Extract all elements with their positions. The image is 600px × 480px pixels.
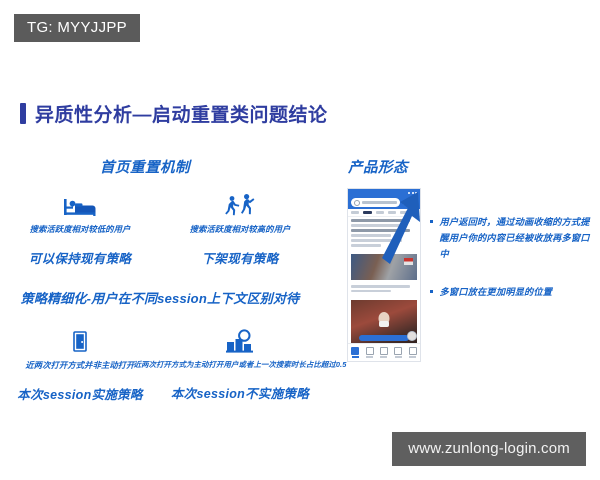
phone-result-list-2: [348, 283, 420, 297]
phone-result-list: [348, 217, 420, 251]
phone-search-query: [362, 201, 397, 204]
flag-graphic: [404, 258, 413, 265]
phone-tab-active[interactable]: [363, 211, 372, 214]
mechanism-cell-low-activity: 搜索活跃度相对较低的用户 可以保持现有策略: [0, 182, 160, 267]
mask-graphic: [379, 321, 389, 327]
bullet-dot-icon: [430, 290, 433, 293]
right-column-header: 产品形态: [348, 156, 408, 177]
message-icon: [394, 347, 402, 355]
bed-icon: [63, 182, 97, 218]
search-icon: [354, 200, 360, 206]
page-title: 异质性分析—启动重置类问题结论: [20, 100, 328, 127]
bullet-dot-icon: [430, 220, 433, 223]
door-icon: [68, 318, 92, 354]
product-bullet-list: 用户返回时，通过动画收缩的方式提醒用户你的内容已经被收放再多窗口中 多窗口放在更…: [430, 214, 592, 322]
conclusion-skip-strategy: 本次session不实施策略: [171, 383, 309, 402]
status-icon: [415, 192, 417, 194]
phone-search-bar[interactable]: [348, 196, 420, 209]
phone-camera-icon[interactable]: [403, 201, 407, 205]
nav-label: [366, 356, 373, 358]
status-icon: [408, 192, 410, 194]
result-line: [351, 244, 381, 247]
phone-tab[interactable]: [400, 211, 408, 214]
phone-news-thumbnail: [351, 254, 417, 280]
phone-tab[interactable]: [388, 211, 396, 214]
nav-item-video[interactable]: [366, 347, 374, 358]
phone-tab[interactable]: [376, 211, 384, 214]
conclusion-remove-strategy: 下架现有策略: [202, 248, 279, 267]
bullet-text: 用户返回时，通过动画收缩的方式提醒用户你的内容已经被收放再多窗口中: [440, 214, 593, 262]
nav-item-home[interactable]: [351, 347, 359, 358]
result-line: [351, 234, 391, 237]
list-item: 多窗口放在更加明显的位置: [430, 284, 592, 300]
site-watermark-badge: www.zunlong-login.com: [392, 432, 586, 466]
video-icon: [366, 347, 374, 355]
user-icon: [409, 347, 417, 355]
result-line: [351, 239, 402, 242]
nav-label: [380, 356, 387, 358]
nav-item-message[interactable]: [394, 347, 402, 358]
left-column-header: 首页重置机制: [100, 156, 190, 177]
caption-active-open: 近两次打开方式为主动打开用户或者上一次搜索时长占比超过0.5: [134, 359, 347, 370]
compass-icon: [380, 347, 388, 355]
mechanism-row-2: 近两次打开方式并非主动打开 本次session实施策略: [0, 318, 320, 403]
phone-search-input[interactable]: [351, 198, 400, 207]
search-buildings-icon: [225, 318, 255, 354]
nav-label: [352, 356, 359, 358]
phone-refresh-fab[interactable]: [407, 331, 417, 341]
caption-low-activity: 搜索活跃度相对较低的用户: [30, 223, 131, 235]
caption-passive-open: 近两次打开方式并非主动打开: [25, 359, 134, 371]
status-icon: [412, 192, 414, 194]
result-line: [351, 285, 410, 288]
result-line: [351, 229, 410, 232]
phone-multi-window-button[interactable]: [410, 199, 417, 206]
title-accent-bar: [20, 103, 26, 124]
home-icon: [351, 347, 359, 355]
phone-bottom-nav[interactable]: [348, 343, 420, 361]
page-title-text: 异质性分析—启动重置类问题结论: [35, 100, 328, 127]
result-line: [351, 224, 402, 227]
mechanism-row-1: 搜索活跃度相对较低的用户 可以保持现有策略 搜索活跃度相对较高的用户: [0, 182, 320, 267]
nav-label: [395, 356, 402, 358]
tg-watermark-badge: TG: MYYJJPP: [14, 14, 140, 42]
slide-canvas: TG: MYYJJPP 异质性分析—启动重置类问题结论 首页重置机制 产品形态: [0, 0, 600, 480]
list-item: 用户返回时，通过动画收缩的方式提醒用户你的内容已经被收放再多窗口中: [430, 214, 592, 262]
nav-label: [409, 356, 416, 358]
result-line: [351, 219, 410, 222]
active-people-icon: [223, 182, 257, 218]
phone-video-cta-button[interactable]: [359, 335, 409, 341]
mechanism-cell-high-activity: 搜索活跃度相对较高的用户 下架现有策略: [160, 182, 320, 267]
mechanism-cell-active-open: 近两次打开方式为主动打开用户或者上一次搜索时长占比超过0.5 本次session…: [160, 318, 320, 403]
caption-high-activity: 搜索活跃度相对较高的用户: [190, 223, 291, 235]
conclusion-apply-strategy: 本次session实施策略: [17, 384, 142, 403]
result-line: [351, 290, 391, 293]
phone-status-bar: [348, 189, 420, 196]
phone-category-tabs[interactable]: [348, 209, 420, 217]
nav-item-discover[interactable]: [380, 347, 388, 358]
phone-screenshot-mock: [347, 188, 421, 362]
bullet-text: 多窗口放在更加明显的位置: [440, 284, 553, 300]
strategy-refinement-banner: 策略精细化-用户在不同session上下文区别对待: [0, 288, 320, 307]
phone-tab[interactable]: [351, 211, 359, 214]
nav-item-profile[interactable]: [409, 347, 417, 358]
conclusion-keep-strategy: 可以保持现有策略: [29, 248, 131, 267]
